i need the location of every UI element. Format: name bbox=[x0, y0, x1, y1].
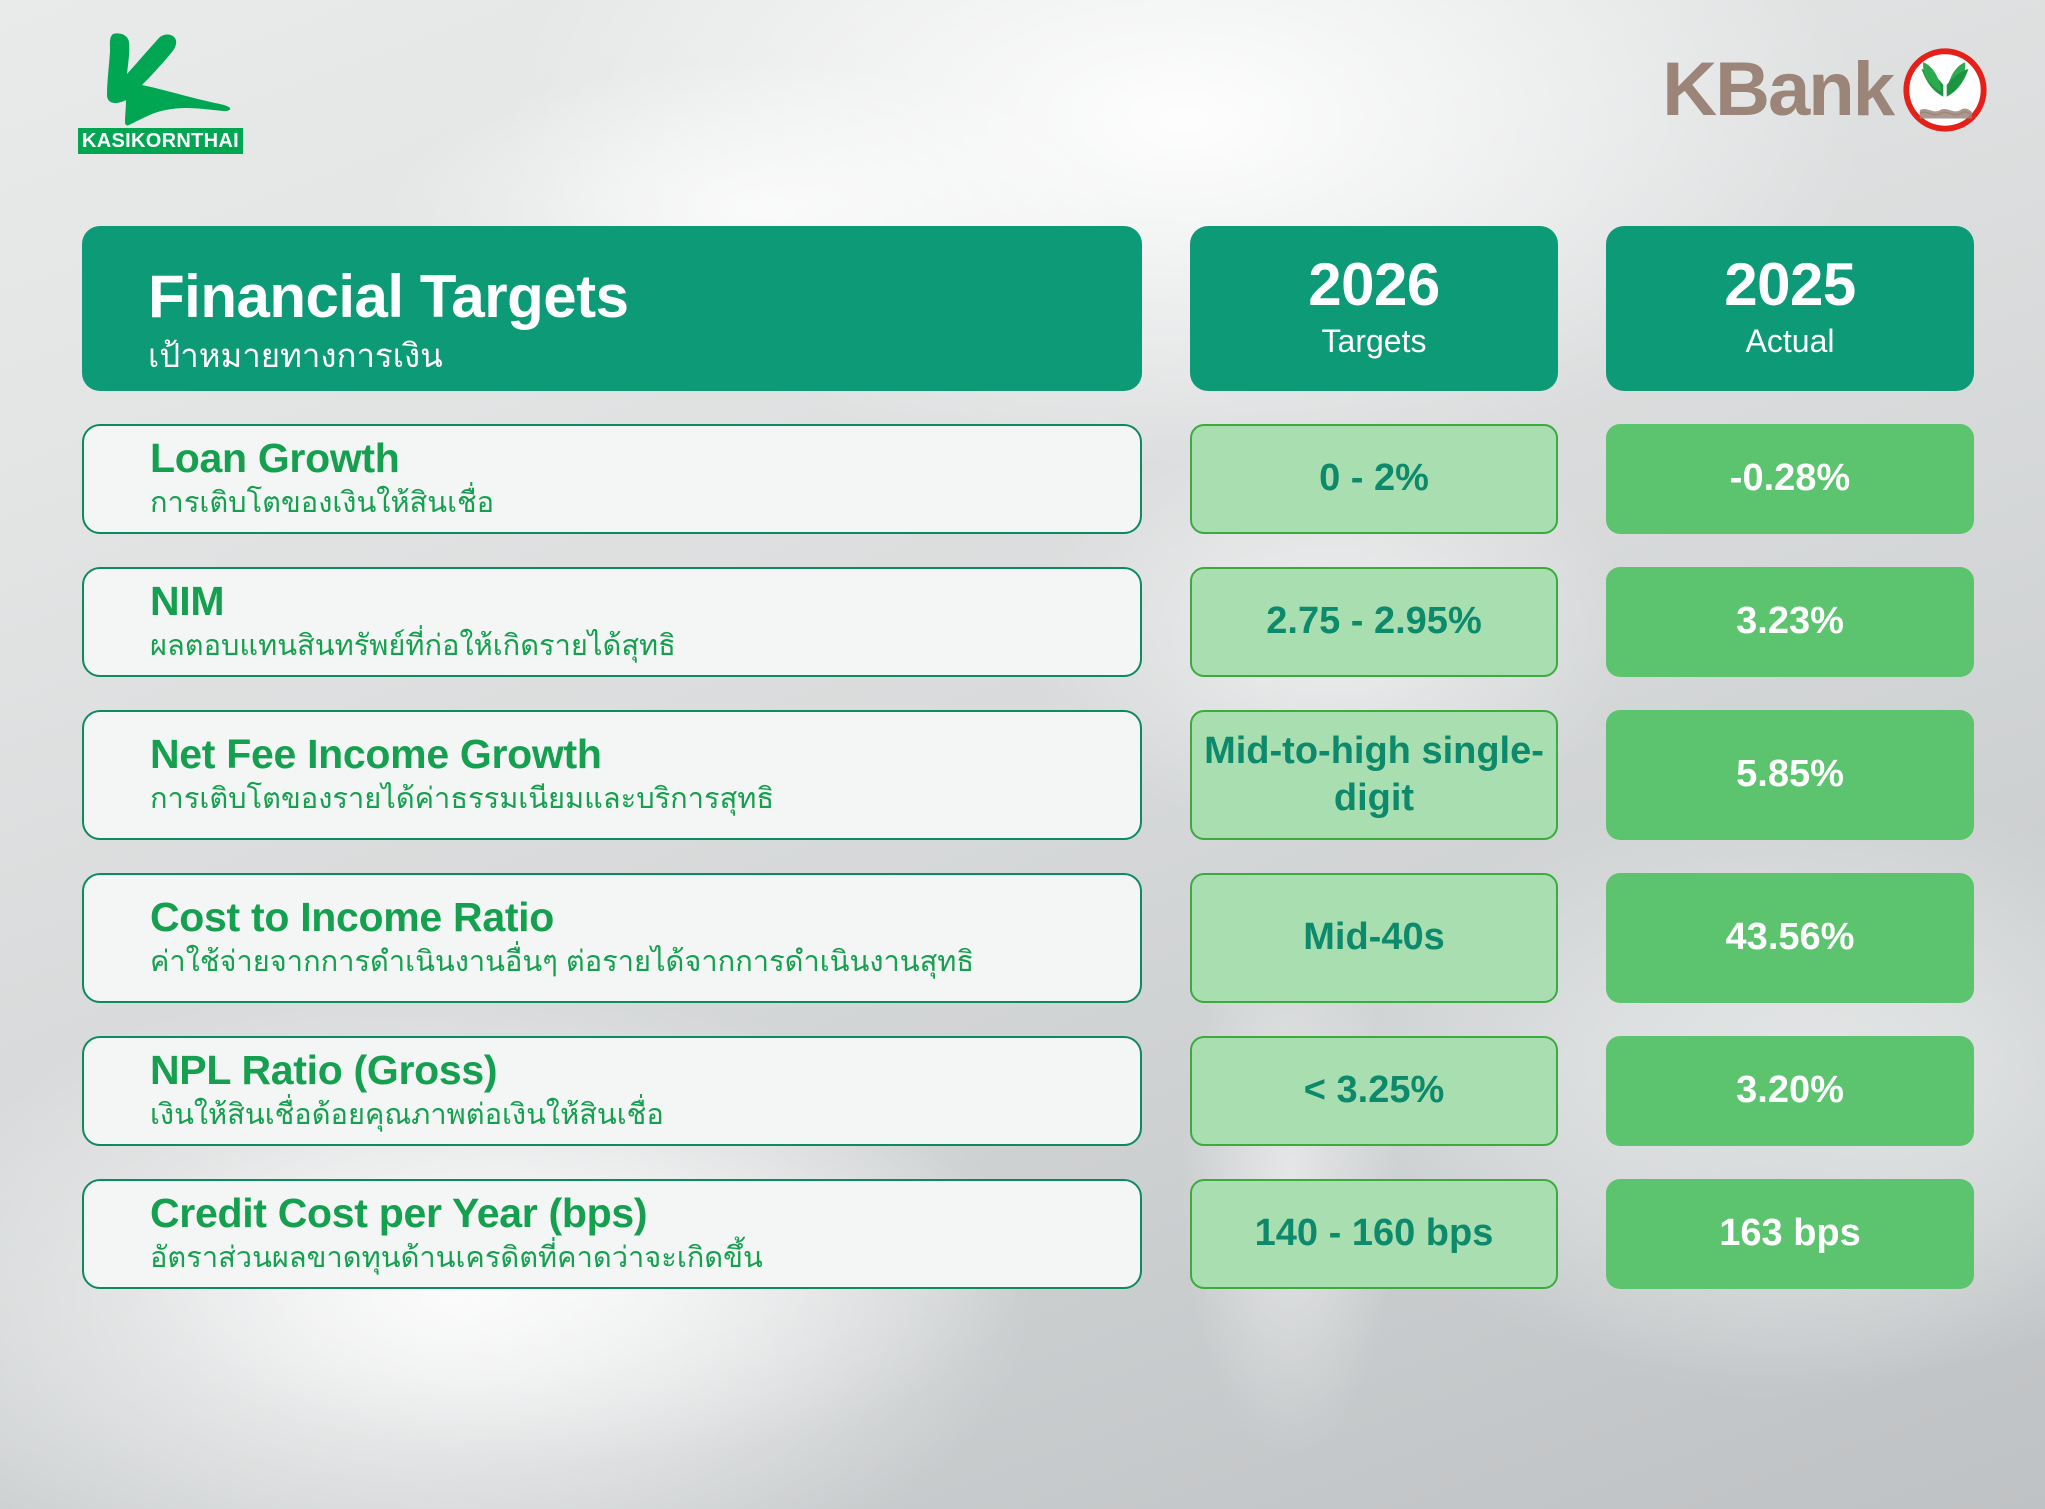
table-row: Cost to Income Ratio ค่าใช้จ่ายจากการดำเ… bbox=[82, 873, 1974, 1003]
column-header-target: 2026 Targets bbox=[1190, 226, 1558, 391]
metric-name-en: Credit Cost per Year (bps) bbox=[150, 1191, 1140, 1237]
table-header-row: Financial Targets เป้าหมายทางการเงิน 202… bbox=[82, 226, 1974, 391]
kbank-logo: KBank bbox=[1662, 48, 1987, 132]
metric-label-net-fee-income-growth: Net Fee Income Growth การเติบโตของรายได้… bbox=[82, 710, 1142, 840]
actual-value-npl-ratio-gross: 3.20% bbox=[1606, 1036, 1974, 1146]
metric-name-en: Loan Growth bbox=[150, 436, 1140, 482]
table-row: Credit Cost per Year (bps) อัตราส่วนผลขา… bbox=[82, 1179, 1974, 1289]
target-value-cost-to-income-ratio: Mid-40s bbox=[1190, 873, 1558, 1003]
table-row: Loan Growth การเติบโตของเงินให้สินเชื่อ … bbox=[82, 424, 1974, 534]
kasikorn-k-brushstroke-icon bbox=[82, 30, 232, 130]
financial-targets-table: Financial Targets เป้าหมายทางการเงิน 202… bbox=[82, 226, 1974, 1289]
column-header-actual: 2025 Actual bbox=[1606, 226, 1974, 391]
metric-name-th: การเติบโตของเงินให้สินเชื่อ bbox=[150, 485, 1140, 523]
metric-name-en: NIM bbox=[150, 579, 1140, 625]
table-row: Net Fee Income Growth การเติบโตของรายได้… bbox=[82, 710, 1974, 840]
metric-label-nim: NIM ผลตอบแทนสินทรัพย์ที่ก่อให้เกิดรายได้… bbox=[82, 567, 1142, 677]
metric-name-th: เงินให้สินเชื่อด้อยคุณภาพต่อเงินให้สินเช… bbox=[150, 1097, 1140, 1135]
target-value-net-fee-income-growth: Mid-to-high single-digit bbox=[1190, 710, 1558, 840]
kbank-wordmark: KBank bbox=[1662, 52, 1893, 128]
slide-canvas: KASIKORNTHAI KBank Financial Targets เป้… bbox=[0, 0, 2045, 1509]
metric-name-en: Cost to Income Ratio bbox=[150, 895, 1140, 941]
actual-value-net-fee-income-growth: 5.85% bbox=[1606, 710, 1974, 840]
kasikornthai-logo: KASIKORNTHAI bbox=[78, 30, 278, 150]
target-value-credit-cost-per-year: 140 - 160 bps bbox=[1190, 1179, 1558, 1289]
column-header-target-label: Targets bbox=[1322, 321, 1427, 363]
actual-value-loan-growth: -0.28% bbox=[1606, 424, 1974, 534]
table-row: NIM ผลตอบแทนสินทรัพย์ที่ก่อให้เกิดรายได้… bbox=[82, 567, 1974, 677]
table-row: NPL Ratio (Gross) เงินให้สินเชื่อด้อยคุณ… bbox=[82, 1036, 1974, 1146]
page-subtitle-thai: เป้าหมายทางการเงิน bbox=[148, 334, 1142, 379]
page-title-block: Financial Targets เป้าหมายทางการเงิน bbox=[82, 226, 1142, 391]
metric-label-loan-growth: Loan Growth การเติบโตของเงินให้สินเชื่อ bbox=[82, 424, 1142, 534]
metric-label-npl-ratio-gross: NPL Ratio (Gross) เงินให้สินเชื่อด้อยคุณ… bbox=[82, 1036, 1142, 1146]
kbank-seedling-seal-icon bbox=[1903, 48, 1987, 132]
page-title: Financial Targets bbox=[148, 265, 1142, 328]
target-value-npl-ratio-gross: < 3.25% bbox=[1190, 1036, 1558, 1146]
metric-label-credit-cost-per-year: Credit Cost per Year (bps) อัตราส่วนผลขา… bbox=[82, 1179, 1142, 1289]
metric-name-th: การเติบโตของรายได้ค่าธรรมเนียมและบริการส… bbox=[150, 781, 1140, 819]
metric-name-en: Net Fee Income Growth bbox=[150, 732, 1140, 778]
column-header-target-year: 2026 bbox=[1308, 255, 1439, 315]
actual-value-nim: 3.23% bbox=[1606, 567, 1974, 677]
metric-label-cost-to-income-ratio: Cost to Income Ratio ค่าใช้จ่ายจากการดำเ… bbox=[82, 873, 1142, 1003]
kasikornthai-wordmark: KASIKORNTHAI bbox=[78, 128, 243, 154]
actual-value-cost-to-income-ratio: 43.56% bbox=[1606, 873, 1974, 1003]
column-header-actual-year: 2025 bbox=[1724, 255, 1855, 315]
actual-value-credit-cost-per-year: 163 bps bbox=[1606, 1179, 1974, 1289]
kasikornthai-wordmark-bar: KASIKORNTHAI bbox=[78, 128, 243, 154]
metric-name-en: NPL Ratio (Gross) bbox=[150, 1048, 1140, 1094]
metric-name-th: อัตราส่วนผลขาดทุนด้านเครดิตที่คาดว่าจะเก… bbox=[150, 1240, 1140, 1278]
target-value-nim: 2.75 - 2.95% bbox=[1190, 567, 1558, 677]
metric-name-th: ค่าใช้จ่ายจากการดำเนินงานอื่นๆ ต่อรายได้… bbox=[150, 944, 1140, 982]
column-header-actual-label: Actual bbox=[1746, 321, 1835, 363]
metric-name-th: ผลตอบแทนสินทรัพย์ที่ก่อให้เกิดรายได้สุทธ… bbox=[150, 628, 1140, 666]
target-value-loan-growth: 0 - 2% bbox=[1190, 424, 1558, 534]
